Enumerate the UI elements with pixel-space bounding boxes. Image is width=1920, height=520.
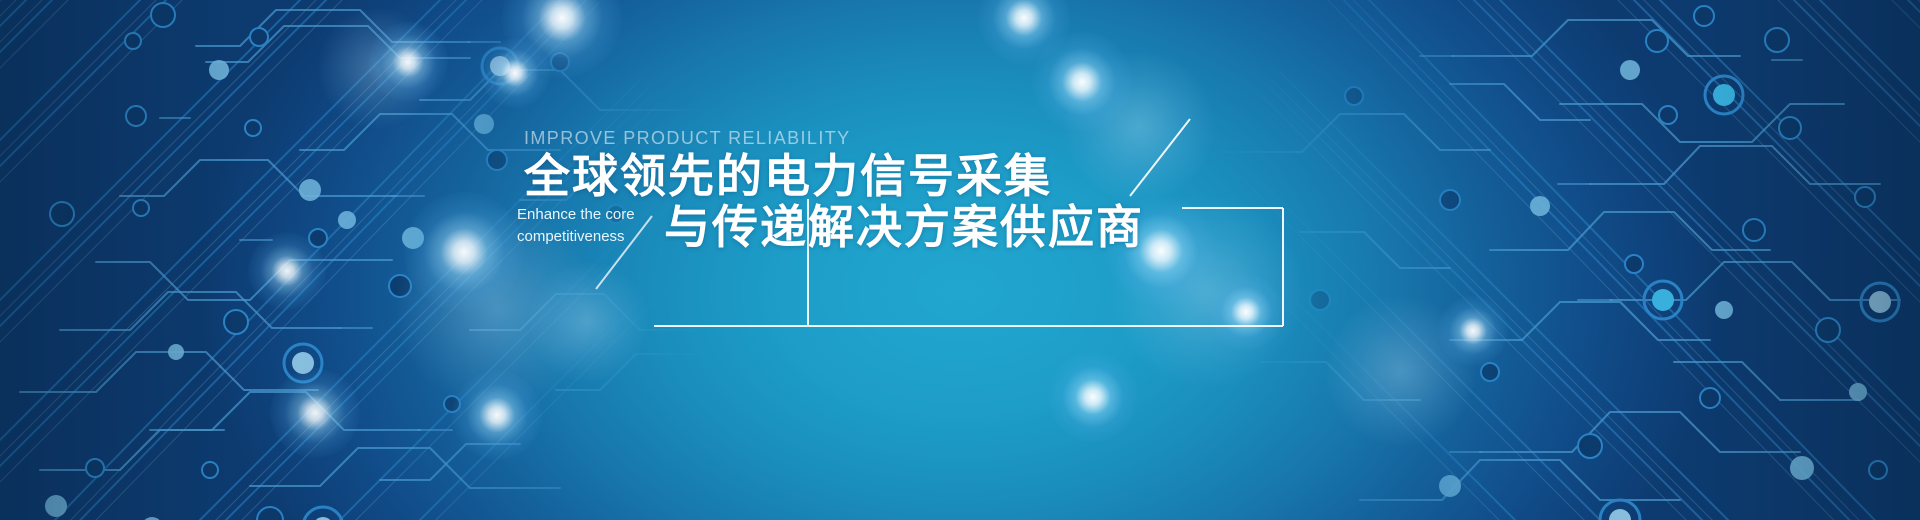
banner-eyebrow: IMPROVE PRODUCT RELIABILITY — [524, 128, 851, 149]
glow-node — [1438, 296, 1508, 366]
banner-copy: IMPROVE PRODUCT RELIABILITY 全球领先的电力信号采集 … — [0, 0, 1920, 520]
bokeh-blob — [318, 8, 438, 128]
glow-node — [270, 368, 360, 458]
glow-node — [452, 370, 542, 460]
bokeh-blob — [1064, 52, 1214, 202]
glow-node — [1048, 352, 1138, 442]
circuit-node-ringed-bright — [1600, 76, 1899, 520]
glow-node — [404, 192, 524, 312]
diagonal-accent-lower-left — [596, 216, 652, 289]
circuit-node-ring — [50, 3, 625, 520]
banner-headline-line-2: 与传递解决方案供应商 — [664, 204, 1144, 250]
glow-node — [1032, 32, 1132, 132]
glow-node — [502, 0, 622, 78]
glow-node — [248, 232, 326, 310]
circuit-node-pad — [1439, 60, 1867, 497]
bokeh-blob — [528, 262, 648, 382]
diagonal-accent-upper-right — [1130, 119, 1190, 196]
edge-vignette — [0, 0, 1920, 520]
glow-node — [1106, 196, 1216, 306]
hero-banner: IMPROVE PRODUCT RELIABILITY 全球领先的电力信号采集 … — [0, 0, 1920, 520]
circuit-node-ring — [1310, 6, 1887, 479]
banner-subcopy: Enhance the core competitiveness — [517, 204, 645, 248]
banner-headline-line-1: 全球领先的电力信号采集 — [524, 153, 1052, 199]
circuit-pattern-left — [0, 0, 720, 520]
circuit-pattern-right — [1200, 0, 1920, 520]
bokeh-blob — [396, 208, 596, 408]
glow-node — [368, 22, 448, 102]
decorative-frame — [0, 0, 1920, 520]
circuit-node-ringed-bright — [284, 48, 518, 520]
glow-node — [978, 0, 1070, 64]
bokeh-blob — [1112, 196, 1302, 386]
glow-node — [480, 38, 550, 108]
bokeh-blob — [1326, 296, 1476, 446]
glow-node — [1208, 274, 1284, 350]
circuit-node-pad — [45, 60, 494, 520]
